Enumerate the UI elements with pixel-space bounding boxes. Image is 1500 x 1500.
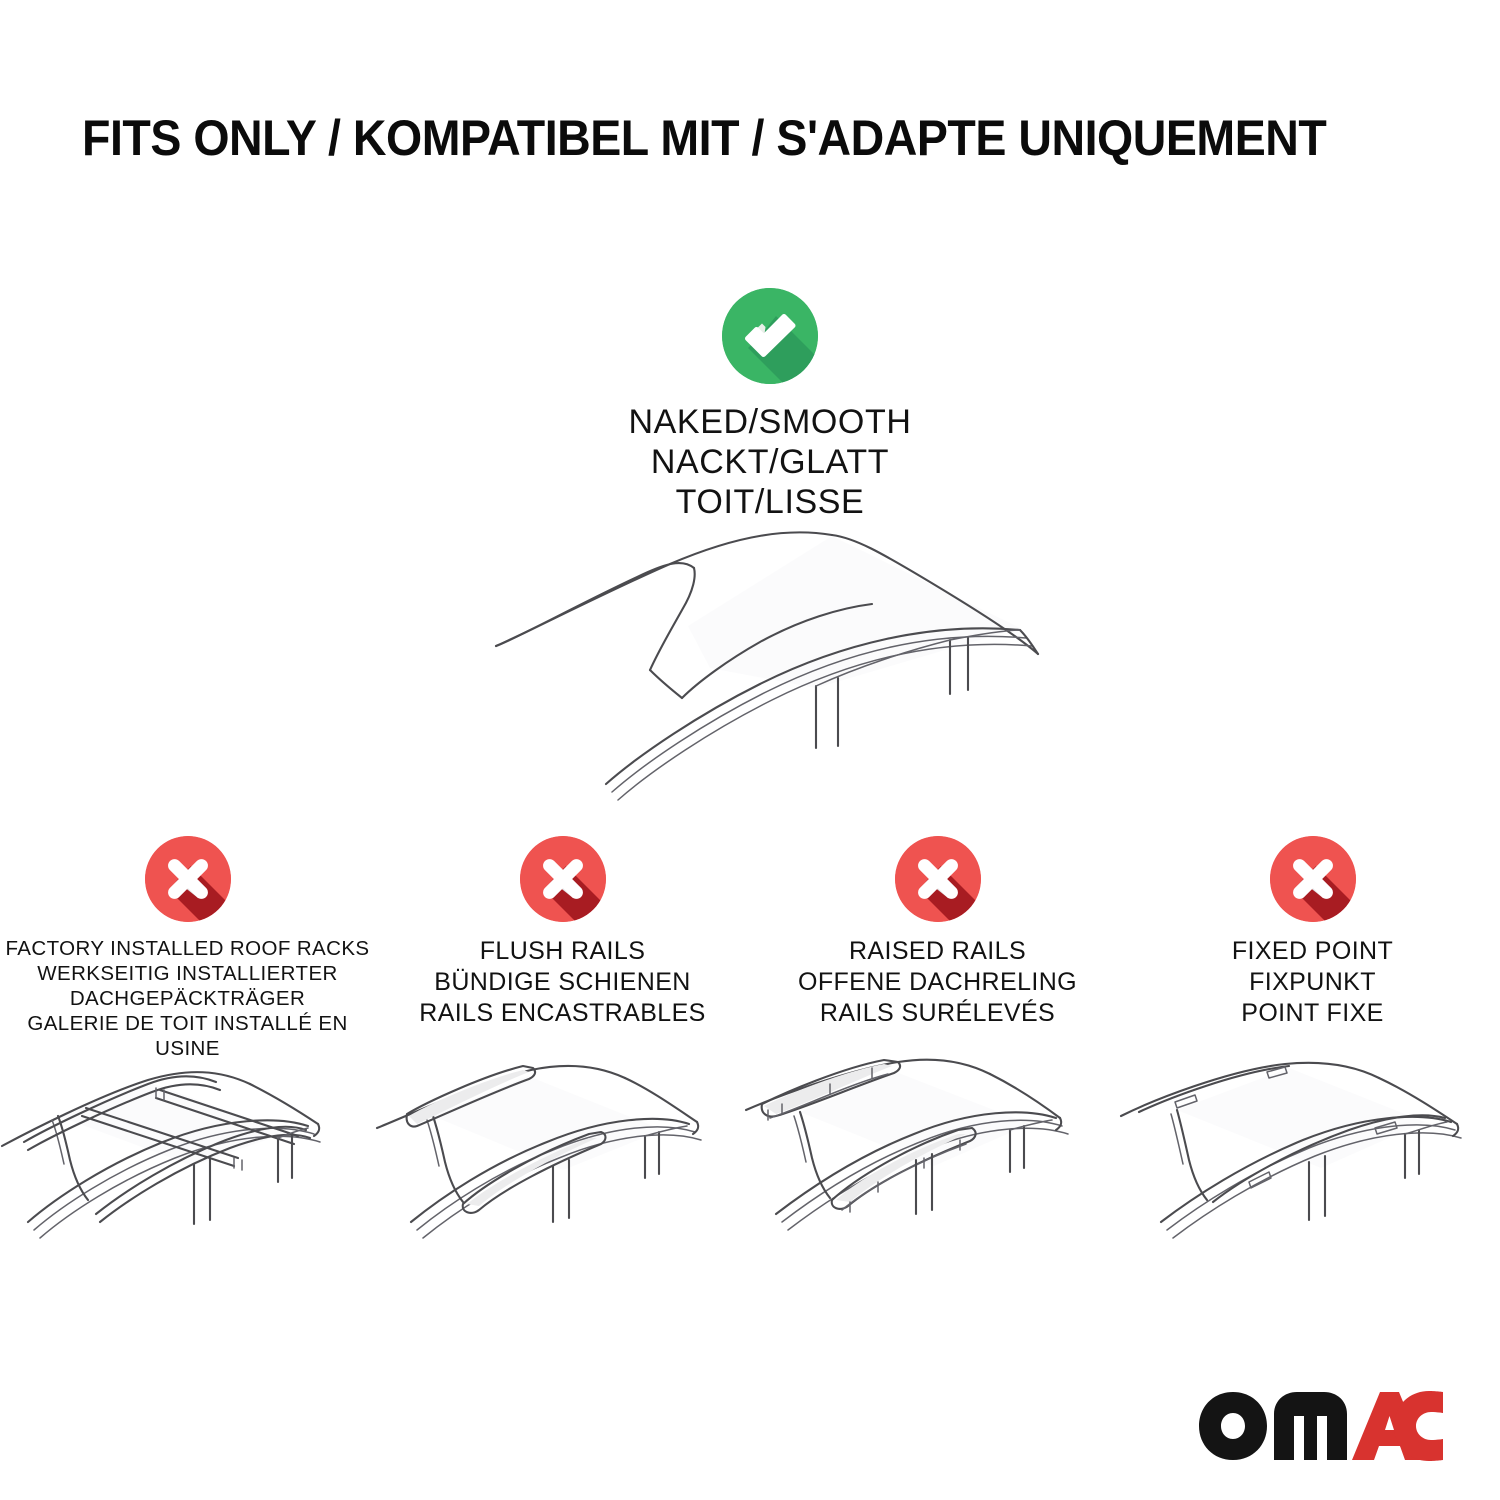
label-de: BÜNDIGE SCHIENEN <box>419 967 705 998</box>
label-en: FLUSH RAILS <box>419 936 705 967</box>
omac-logo <box>1196 1388 1446 1464</box>
label-en: RAISED RAILS <box>798 936 1077 967</box>
compatible-label-de: NACKT/GLATT <box>430 442 1110 482</box>
flush-rails-roof-illustration <box>363 1054 763 1269</box>
cross-circle-icon <box>145 836 231 922</box>
raised-rails-roof-illustration <box>738 1054 1138 1269</box>
compatible-label-en: NAKED/SMOOTH <box>430 402 1110 442</box>
label-fr: RAILS ENCASTRABLES <box>419 998 705 1029</box>
compatibility-infographic: FITS ONLY / KOMPATIBEL MIT / S'ADAPTE UN… <box>0 0 1500 1500</box>
fixed-point-roof-illustration <box>1113 1054 1500 1269</box>
factory-roof-rack-illustration <box>0 1054 388 1269</box>
label-en: FACTORY INSTALLED ROOF RACKS <box>0 936 375 961</box>
compatible-roof-section: NAKED/SMOOTH NACKT/GLATT TOIT/LISSE <box>430 288 1110 788</box>
check-circle-icon <box>722 288 818 384</box>
label-en: FIXED POINT <box>1232 936 1393 967</box>
compatible-label-fr: TOIT/LISSE <box>430 482 1110 522</box>
label-de-line1: WERKSEITIG INSTALLIERTER <box>0 961 375 986</box>
roof-type-column-factory-rack: FACTORY INSTALLED ROOF RACKS WERKSEITIG … <box>0 836 375 1266</box>
label-fr: RAILS SURÉLEVÉS <box>798 998 1077 1029</box>
incompatible-roof-types: FACTORY INSTALLED ROOF RACKS WERKSEITIG … <box>0 836 1500 1266</box>
roof-type-column-flush-rails: FLUSH RAILS BÜNDIGE SCHIENEN RAILS ENCAS… <box>375 836 750 1266</box>
cross-circle-icon <box>895 836 981 922</box>
cross-circle-icon <box>520 836 606 922</box>
label-de: FIXPUNKT <box>1232 967 1393 998</box>
roof-type-column-raised-rails: RAISED RAILS OFFENE DACHRELING RAILS SUR… <box>750 836 1125 1266</box>
roof-type-column-fixed-point: FIXED POINT FIXPUNKT POINT FIXE <box>1125 836 1500 1266</box>
naked-smooth-roof-illustration <box>460 518 1080 808</box>
label-fr: POINT FIXE <box>1232 998 1393 1029</box>
cross-circle-icon <box>1270 836 1356 922</box>
page-title: FITS ONLY / KOMPATIBEL MIT / S'ADAPTE UN… <box>82 108 1328 168</box>
label-de: OFFENE DACHRELING <box>798 967 1077 998</box>
label-de-line2: DACHGEPÄCKTRÄGER <box>0 986 375 1011</box>
